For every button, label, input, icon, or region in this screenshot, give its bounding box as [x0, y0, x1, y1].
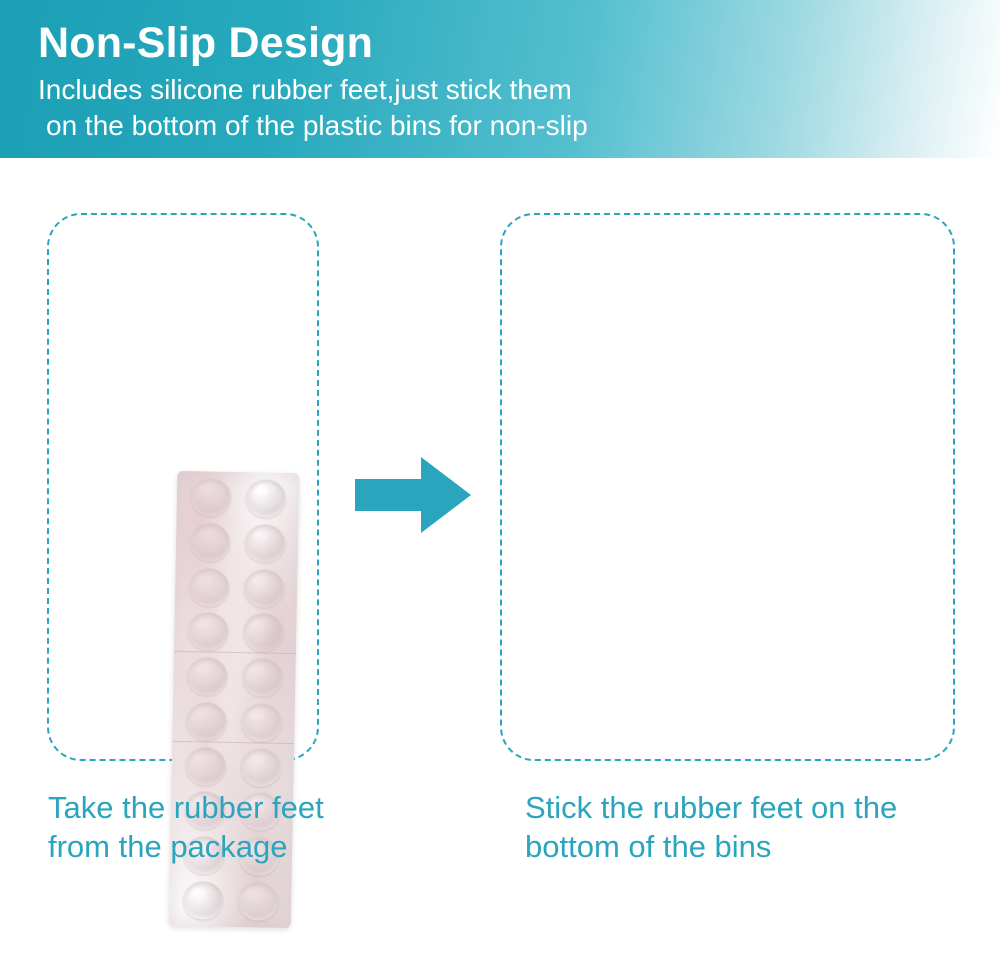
rubber-foot [182, 881, 223, 920]
rubber-foot [242, 658, 283, 697]
rubber-foot [190, 478, 231, 517]
rubber-foot [240, 748, 281, 787]
banner-subtitle-line2: on the bottom of the plastic bins for no… [38, 108, 1000, 144]
right-caption: Stick the rubber feet on the bottom of t… [525, 788, 975, 866]
left-photo-panel [47, 213, 319, 761]
rubber-foot [243, 569, 284, 608]
rubber-foot [189, 523, 230, 562]
rubber-foot [187, 657, 228, 696]
arrow-right-icon [355, 455, 473, 535]
rubber-foot [185, 747, 226, 786]
rubber-foot [187, 613, 228, 652]
right-photo-panel [500, 213, 955, 761]
banner-subtitle-line1: Includes silicone rubber feet,just stick… [38, 72, 1000, 108]
rubber-foot [237, 882, 278, 921]
rubber-foot [244, 524, 285, 563]
left-caption: Take the rubber feet from the package [48, 788, 378, 866]
rubber-foot [186, 702, 227, 741]
rubber-foot [245, 480, 286, 519]
product-infographic: Non-Slip Design Includes silicone rubber… [0, 0, 1000, 903]
rubber-foot [242, 614, 283, 653]
page-title: Non-Slip Design [38, 16, 1000, 70]
header-banner: Non-Slip Design Includes silicone rubber… [0, 0, 1000, 158]
rubber-foot [241, 703, 282, 742]
rubber-foot [188, 568, 229, 607]
